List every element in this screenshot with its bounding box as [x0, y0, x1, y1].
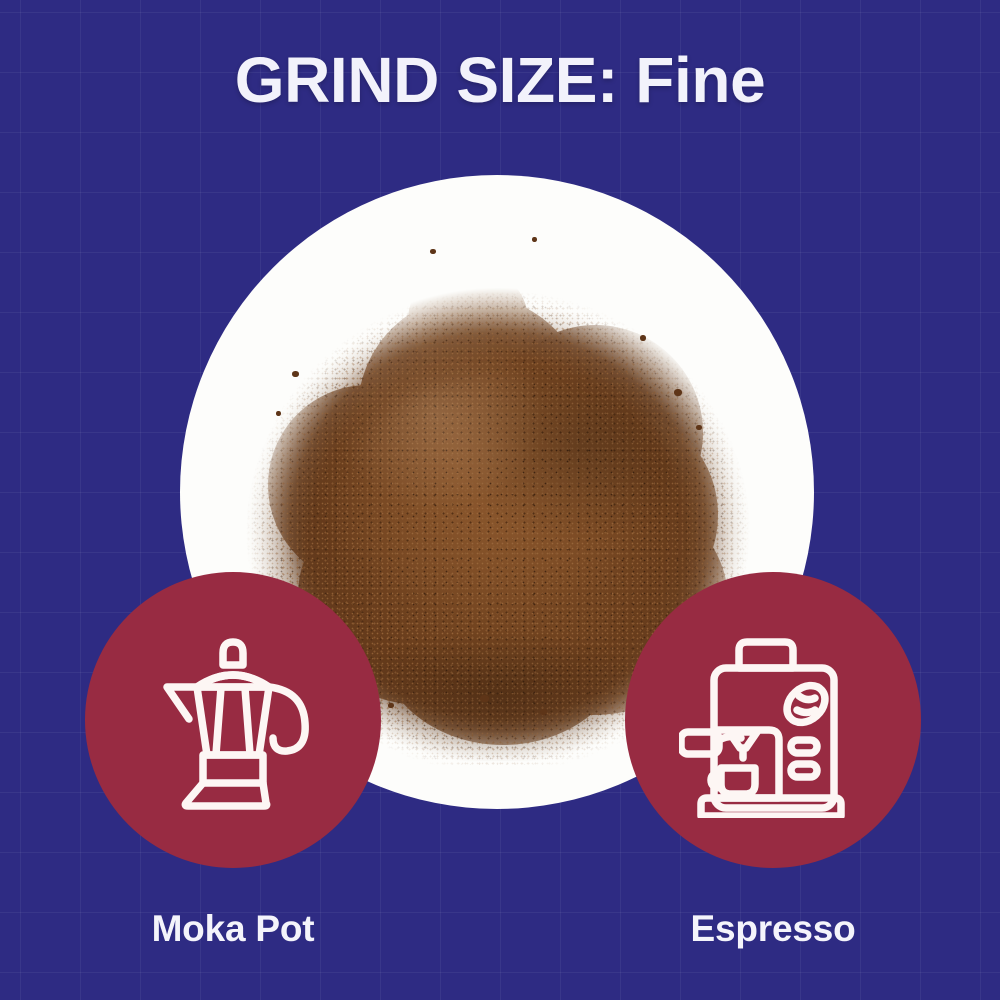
moka-pot-icon	[145, 627, 321, 813]
title-value: Fine	[635, 44, 765, 116]
method-badge-moka-pot[interactable]	[85, 572, 381, 868]
page-title: GRIND SIZE: Fine	[0, 46, 1000, 115]
method-label-moka-pot: Moka Pot	[63, 908, 403, 950]
title-label: GRIND SIZE:	[235, 44, 618, 116]
method-label-espresso: Espresso	[603, 908, 943, 950]
grind-size-infographic: GRIND SIZE: Fine	[0, 0, 1000, 1000]
espresso-machine-icon	[679, 622, 867, 818]
method-badge-espresso[interactable]	[625, 572, 921, 868]
